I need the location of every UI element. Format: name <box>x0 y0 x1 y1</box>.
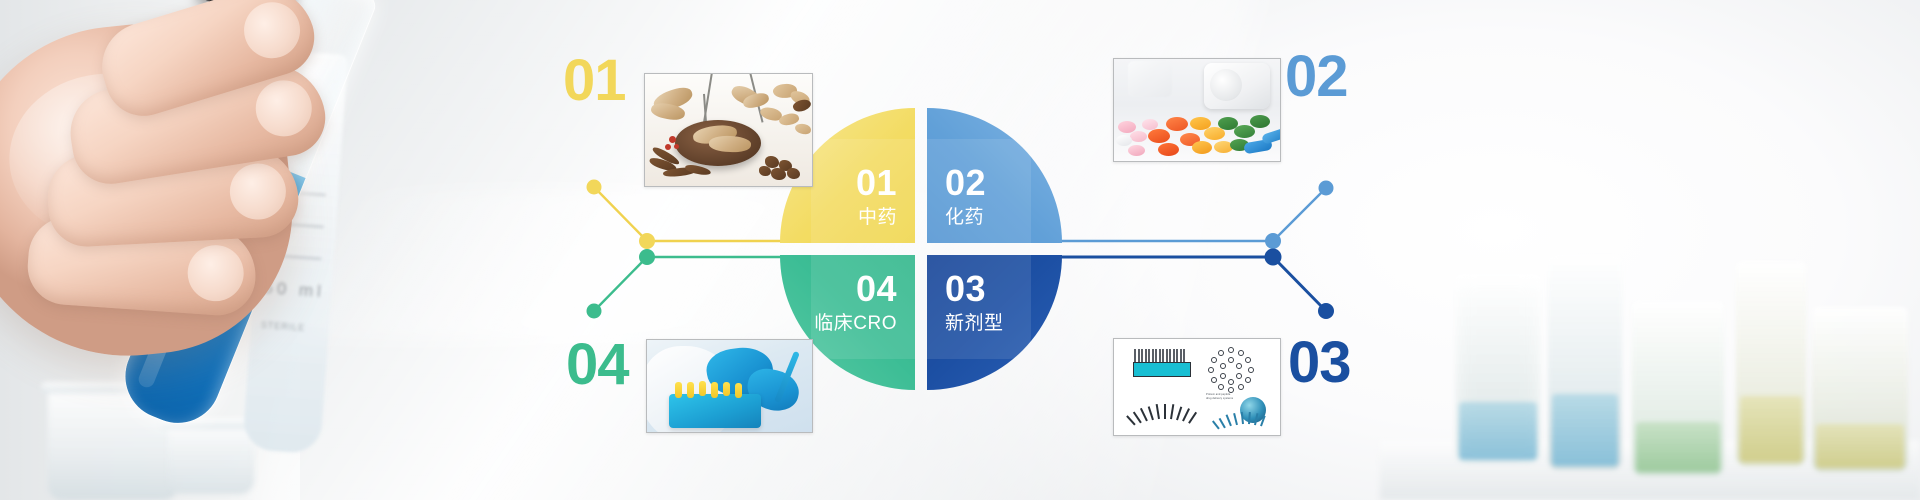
thumbnail-01-photo <box>645 74 812 186</box>
callout-number-01: 01 <box>563 52 626 110</box>
thumbnail-01-herbs[interactable] <box>644 73 813 187</box>
wheel-segment-02[interactable]: 02 化药 <box>927 108 1062 243</box>
background-glassware-1 <box>1455 274 1541 464</box>
background-glassware-3 <box>1632 301 1724 476</box>
wheel-segment-04-label: 临床CRO <box>814 314 897 333</box>
wheel-segment-01-label: 中药 <box>856 208 897 227</box>
callout-number-02: 02 <box>1285 48 1348 106</box>
tube-sub-label: STERILE <box>260 320 305 333</box>
background-glassware-4 <box>1736 261 1806 466</box>
thumbnail-03-photo: Protein and peptide drug delivery system… <box>1114 339 1280 435</box>
thumbnail-03-diagram[interactable]: Protein and peptide drug delivery system… <box>1113 338 1281 436</box>
thumbnail-02-pills[interactable] <box>1113 58 1281 162</box>
thumbnail-04-photo <box>647 340 812 432</box>
wheel-segment-03[interactable]: 03 新剂型 <box>927 255 1062 390</box>
background-glassware-5 <box>1812 307 1908 472</box>
wheel-segment-03-number: 03 <box>945 271 1004 307</box>
wheel-segment-01-number: 01 <box>856 165 897 201</box>
wheel-segment-02-number: 02 <box>945 165 986 201</box>
wheel-segment-04-number: 04 <box>814 271 897 307</box>
callout-number-04: 04 <box>566 336 629 394</box>
services-wheel: 01 中药 02 化药 04 临床CRO 03 新剂型 <box>780 108 1062 390</box>
callout-number-03: 03 <box>1288 334 1351 392</box>
background-glassware-2 <box>1548 255 1622 470</box>
banner-stage: 50 ml STERILE <box>0 0 1920 500</box>
wheel-segment-02-label: 化药 <box>945 208 986 227</box>
thumbnail-02-photo <box>1114 59 1280 161</box>
wheel-segment-03-label: 新剂型 <box>945 314 1004 333</box>
thumbnail-04-lab[interactable] <box>646 339 813 433</box>
